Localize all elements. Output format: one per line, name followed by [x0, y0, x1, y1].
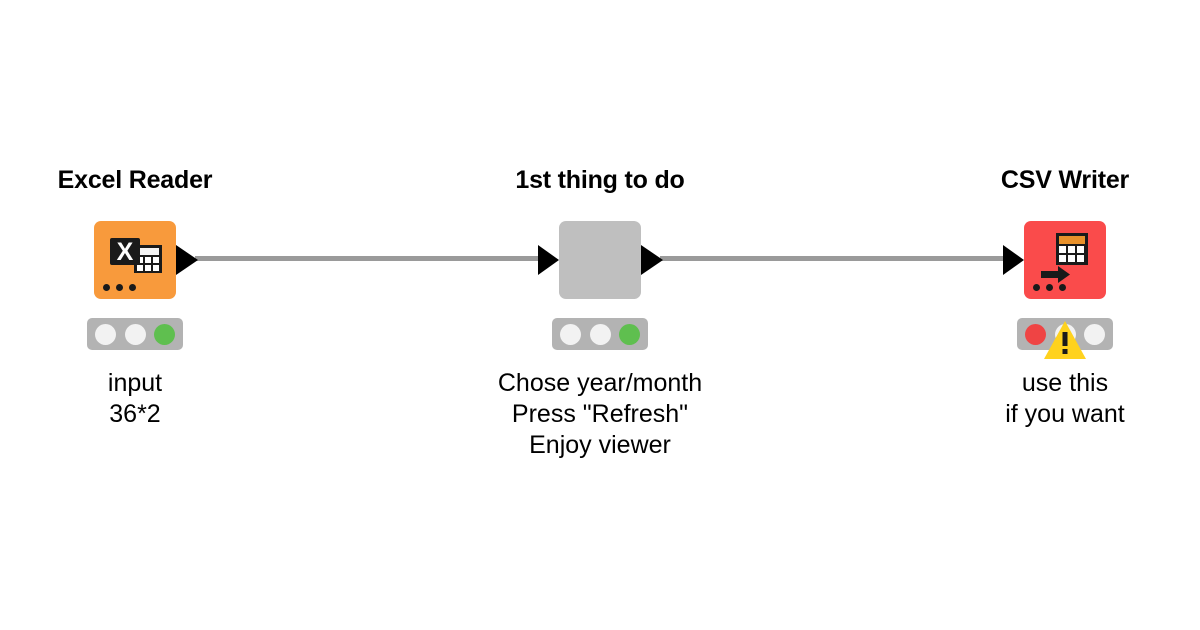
- status-lamp-idle: [95, 324, 116, 345]
- node-box-component-1st-thing-to-do[interactable]: [559, 221, 641, 299]
- status-bar-excel-reader: [87, 318, 183, 350]
- input-port-component[interactable]: [538, 245, 559, 275]
- output-port-excel-reader[interactable]: [176, 245, 198, 275]
- status-lamp-configured: [125, 324, 146, 345]
- status-lamp-idle: [560, 324, 581, 345]
- status-lamp-executed: [619, 324, 640, 345]
- workflow-canvas: Excel Reader: [0, 0, 1200, 630]
- blank-component-icon: [559, 221, 641, 299]
- node-annotation-component-1st-thing-to-do: Chose year/month Press "Refresh" Enjoy v…: [470, 368, 730, 461]
- node-component-1st-thing-to-do[interactable]: 1st thing to do Chose year/month Press "…: [470, 168, 730, 461]
- svg-text:X: X: [117, 238, 134, 266]
- node-annotation-csv-writer: use this if you want: [935, 368, 1195, 430]
- node-annotation-excel-reader: input 36*2: [5, 368, 265, 430]
- node-options-dots-excel-reader: [103, 284, 136, 291]
- node-box-row-component: [470, 220, 730, 300]
- node-csv-writer[interactable]: CSV Writer: [935, 168, 1195, 430]
- node-title-component-1st-thing-to-do: 1st thing to do: [470, 168, 730, 193]
- warning-triangle-icon[interactable]: [1043, 320, 1087, 360]
- node-box-row-excel-reader: X: [5, 220, 265, 300]
- status-lamp-executed: [154, 324, 175, 345]
- node-box-row-csv-writer: [935, 220, 1195, 300]
- node-box-csv-writer[interactable]: [1024, 221, 1106, 299]
- status-bar-csv-writer: [1017, 318, 1113, 350]
- output-port-component[interactable]: [641, 245, 663, 275]
- node-options-dots-csv-writer: [1033, 284, 1066, 291]
- status-bar-component: [552, 318, 648, 350]
- node-title-excel-reader: Excel Reader: [5, 168, 265, 193]
- node-box-excel-reader[interactable]: X: [94, 221, 176, 299]
- node-title-csv-writer: CSV Writer: [935, 168, 1195, 193]
- status-lamp-configured: [590, 324, 611, 345]
- node-excel-reader[interactable]: Excel Reader: [5, 168, 265, 430]
- input-port-csv-writer[interactable]: [1003, 245, 1024, 275]
